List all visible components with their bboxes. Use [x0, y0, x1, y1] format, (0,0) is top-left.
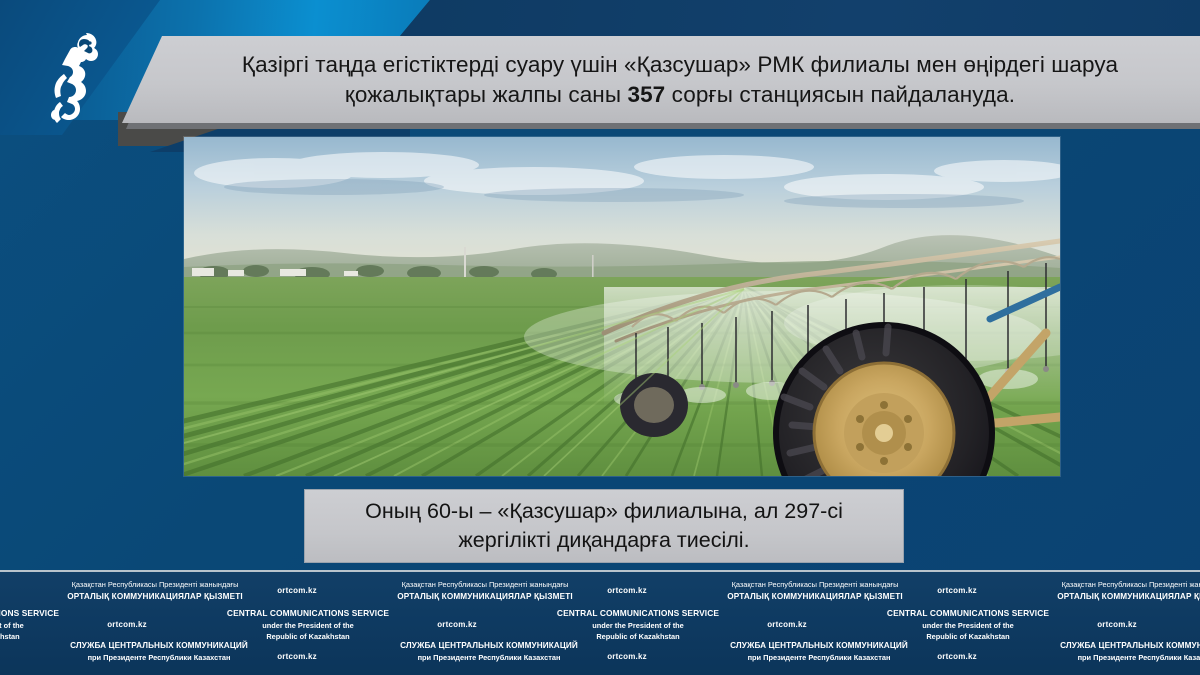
footer-ru-line1: СЛУЖБА ЦЕНТРАЛЬНЫХ КОММУНИКАЦИЙ	[14, 640, 304, 652]
headline-text: Қазіргі таңда егістіктерді суару үшін «Қ…	[242, 50, 1118, 109]
footer-ru-line2: при Президенте Республики Казахстан	[1004, 652, 1200, 663]
caption-line-2: жергілікті диқандарға тиесілі.	[458, 528, 749, 552]
footer-tile: Қазақстан Республикасы Президенті жанынд…	[660, 572, 990, 673]
headline-banner: Қазіргі таңда егістіктерді суару үшін «Қ…	[122, 36, 1200, 123]
headline-line-2-before: қожалықтары жалпы саны	[345, 82, 628, 107]
footer-ru-block: СЛУЖБА ЦЕНТРАЛЬНЫХ КОММУНИКАЦИЙ при През…	[1004, 640, 1200, 663]
slide-canvas: Қазіргі таңда егістіктерді суару үшін «Қ…	[0, 0, 1200, 675]
caption-line-1: Оның 60-ы – «Қазсушар» филиалына, ал 297…	[365, 499, 843, 523]
footer-url: ortcom.kz	[1052, 620, 1182, 629]
footer-en-line1: CENTRAL COMMUNICATIONS SERVICE	[1148, 607, 1200, 620]
footer-ru-line1: СЛУЖБА ЦЕНТРАЛЬНЫХ КОММУНИКАЦИЙ	[1004, 640, 1200, 652]
headline-line-1: Қазіргі таңда егістіктерді суару үшін «Қ…	[242, 52, 1118, 77]
footer-kz-line1: Қазақстан Республикасы Президенті жанынд…	[1000, 580, 1200, 591]
center-pivot-irrigation-photo	[184, 137, 1060, 476]
footer-ru-line1: СЛУЖБА ЦЕНТРАЛЬНЫХ КОММУНИКАЦИЙ	[344, 640, 634, 652]
footer-url: ortcom.kz	[722, 620, 852, 629]
caption-text: Оның 60-ы – «Қазсушар» филиалына, ал 297…	[365, 497, 843, 554]
headline-line-2-after: сорғы станциясын пайдалануда.	[665, 82, 1015, 107]
footer-tile: Қазақстан Республикасы Президенті жанынд…	[0, 572, 330, 673]
footer-tile: Қазақстан Республикасы Президенті жанынд…	[990, 572, 1200, 673]
footer-kz-line2: ОРТАЛЫҚ КОММУНИКАЦИЯЛАР ҚЫЗМЕТІ	[1000, 591, 1200, 603]
footer-url: ortcom.kz	[62, 620, 192, 629]
footer-branding-band: Қазақстан Республикасы Президенті жанынд…	[0, 570, 1200, 675]
snow-leopard-emblem-icon	[34, 24, 120, 128]
headline-pump-count: 357	[627, 82, 665, 107]
footer-ru-line1: СЛУЖБА ЦЕНТРАЛЬНЫХ КОММУНИКАЦИЙ	[674, 640, 964, 652]
caption-box: Оның 60-ы – «Қазсушар» филиалына, ал 297…	[304, 489, 904, 563]
footer-tile: Қазақстан Республикасы Президенті жанынд…	[330, 572, 660, 673]
footer-url: ortcom.kz	[392, 620, 522, 629]
footer-kz-block: Қазақстан Республикасы Президенті жанынд…	[1000, 580, 1200, 603]
